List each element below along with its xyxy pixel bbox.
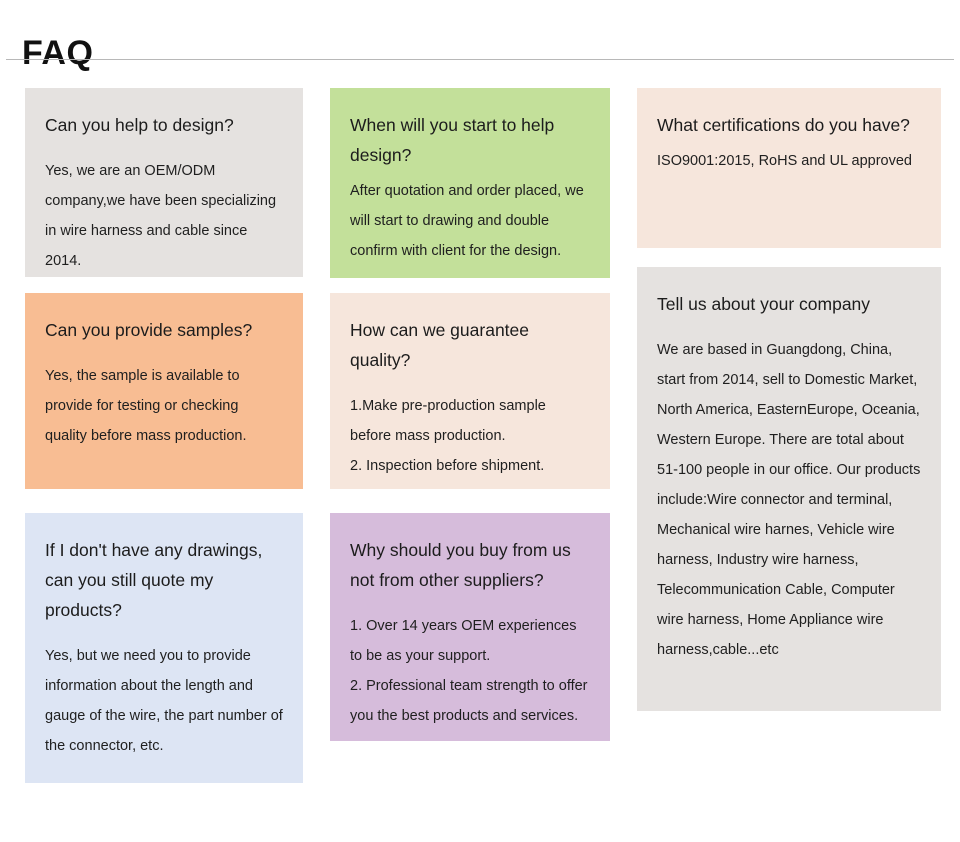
faq-question: Tell us about your company	[657, 289, 921, 319]
faq-card-quality: How can we guarantee quality? 1.Make pre…	[330, 293, 610, 489]
faq-question: Can you provide samples?	[45, 315, 283, 345]
faq-answer: Yes, the sample is available to provide …	[45, 361, 283, 451]
faq-question: When will you start to help design?	[350, 110, 590, 170]
faq-answer: 1. Over 14 years OEM experiences to be a…	[350, 611, 590, 731]
faq-answer: We are based in Guangdong, China, start …	[657, 335, 921, 665]
faq-answer: Yes, we are an OEM/ODM company,we have b…	[45, 156, 283, 276]
faq-question: Why should you buy from us not from othe…	[350, 535, 590, 595]
faq-answer: 1.Make pre-production sample before mass…	[350, 391, 590, 481]
faq-question: If I don't have any drawings, can you st…	[45, 535, 283, 625]
title-divider	[6, 59, 954, 60]
faq-card-company: Tell us about your company We are based …	[637, 267, 941, 711]
faq-question: How can we guarantee quality?	[350, 315, 590, 375]
faq-card-samples: Can you provide samples? Yes, the sample…	[25, 293, 303, 489]
faq-question: Can you help to design?	[45, 110, 283, 140]
faq-card-why-buy: Why should you buy from us not from othe…	[330, 513, 610, 741]
faq-card-drawings: If I don't have any drawings, can you st…	[25, 513, 303, 783]
faq-answer: After quotation and order placed, we wil…	[350, 176, 590, 266]
faq-card-certifications: What certifications do you have? ISO9001…	[637, 88, 941, 248]
faq-page: FAQ Can you help to design? Yes, we are …	[0, 0, 960, 842]
faq-answer: Yes, but we need you to provide informat…	[45, 641, 283, 761]
faq-card-start-design: When will you start to help design? Afte…	[330, 88, 610, 278]
faq-question: What certifications do you have?	[657, 110, 921, 140]
faq-answer: ISO9001:2015, RoHS and UL approved	[657, 146, 921, 176]
page-title: FAQ	[22, 31, 93, 75]
faq-card-design: Can you help to design? Yes, we are an O…	[25, 88, 303, 277]
